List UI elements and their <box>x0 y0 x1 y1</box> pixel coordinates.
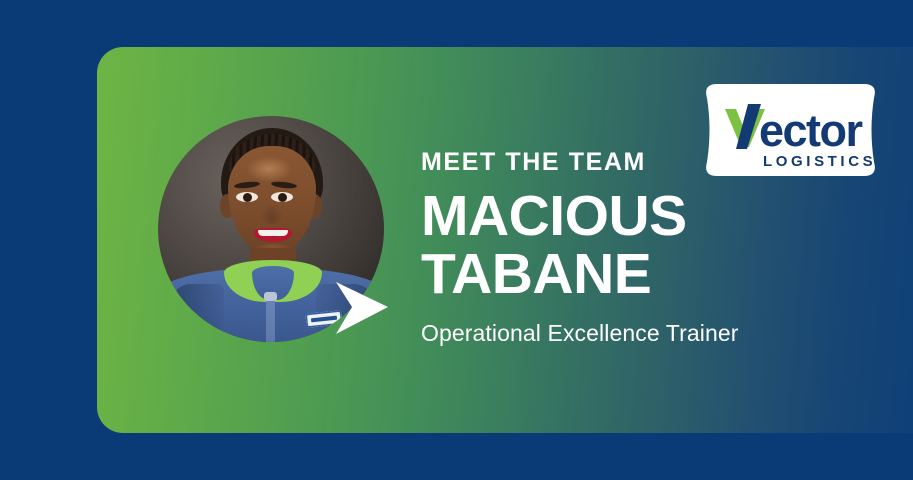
eye-right <box>271 192 293 202</box>
zipper-pull <box>264 292 277 301</box>
shirt-shadow-left <box>168 284 224 342</box>
play-arrow-icon <box>332 280 392 336</box>
forehead-highlight <box>246 156 292 182</box>
vector-logistics-logo: ector LOGISTICS <box>703 84 878 176</box>
nose <box>261 204 283 224</box>
text-block: MEET THE TEAM MACIOUS TABANE Operational… <box>421 150 841 345</box>
person-role: Operational Excellence Trainer <box>421 322 841 345</box>
person-first-name: MACIOUS <box>421 189 841 245</box>
person-last-name: TABANE <box>421 247 841 303</box>
gradient-card: MEET THE TEAM MACIOUS TABANE Operational… <box>97 47 913 433</box>
svg-text:LOGISTICS: LOGISTICS <box>763 153 876 170</box>
eye-left <box>236 192 258 202</box>
svg-text:ector: ector <box>759 105 863 156</box>
poster-canvas: MEET THE TEAM MACIOUS TABANE Operational… <box>0 0 913 480</box>
